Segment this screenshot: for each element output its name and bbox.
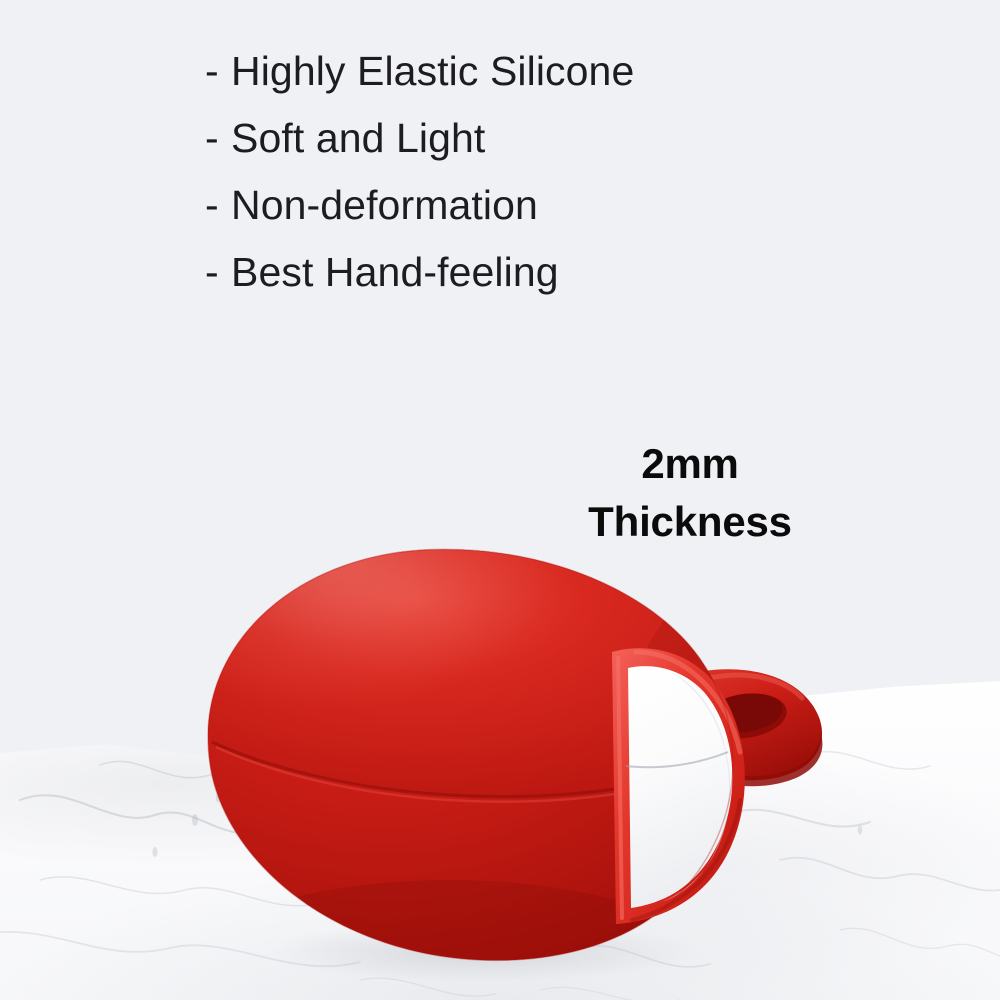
bullet-dash: - [205,239,231,306]
bullet-dash: - [205,172,231,239]
feature-list: -Highly Elastic Silicone -Soft and Light… [205,38,845,306]
feature-label: Soft and Light [231,115,485,161]
feature-item: -Highly Elastic Silicone [205,38,845,105]
bullet-dash: - [205,105,231,172]
bullet-dash: - [205,38,231,105]
product-feature-image: -Highly Elastic Silicone -Soft and Light… [0,0,1000,1000]
feature-item: -Soft and Light [205,105,845,172]
feature-item: -Non-deformation [205,172,845,239]
feature-label: Best Hand-feeling [231,249,559,295]
feature-label: Highly Elastic Silicone [231,48,634,94]
case-specular-sheen [170,500,630,800]
feature-label: Non-deformation [231,182,538,228]
product-image [150,500,870,990]
thickness-value: 2mm [500,435,880,493]
feature-item: -Best Hand-feeling [205,239,845,306]
